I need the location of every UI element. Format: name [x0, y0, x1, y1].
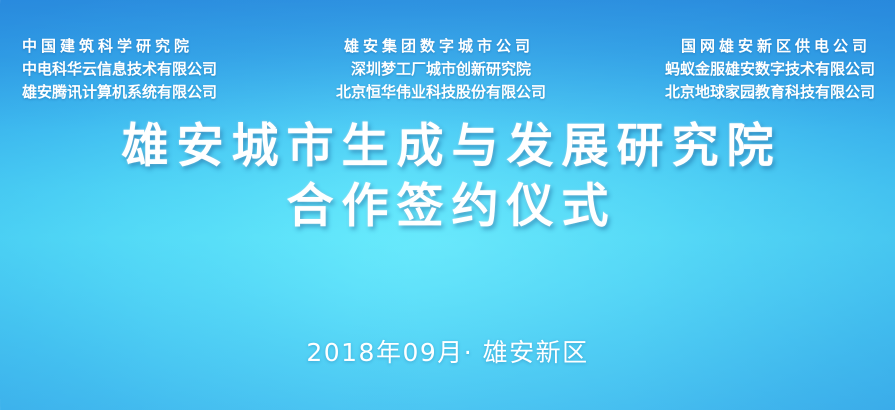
partner-name: 蚂蚁金服雄安数字技术有限公司 [665, 60, 875, 79]
event-banner: 中国建筑科学研究院 中电科华云信息技术有限公司 雄安腾讯计算机系统有限公司 雄安… [0, 0, 895, 410]
partner-name: 中电科华云信息技术有限公司 [22, 60, 217, 79]
partner-name: 国网雄安新区供电公司 [681, 37, 875, 56]
partner-name: 中国建筑科学研究院 [22, 37, 197, 56]
title-line-secondary: 合作签约仪式 [0, 178, 895, 236]
partner-name: 深圳梦工厂城市创新研究院 [351, 60, 531, 79]
partner-name: 雄安集团数字城市公司 [344, 37, 538, 56]
partner-column-2: 雄安集团数字城市公司 深圳梦工厂城市创新研究院 北京恒华伟业科技股份有限公司 [336, 37, 546, 102]
partner-column-3: 国网雄安新区供电公司 蚂蚁金服雄安数字技术有限公司 北京地球家园教育科技有限公司 [665, 37, 875, 102]
banner-content: 中国建筑科学研究院 中电科华云信息技术有限公司 雄安腾讯计算机系统有限公司 雄安… [0, 0, 895, 410]
partner-organizations: 中国建筑科学研究院 中电科华云信息技术有限公司 雄安腾讯计算机系统有限公司 雄安… [0, 37, 895, 102]
partner-column-1: 中国建筑科学研究院 中电科华云信息技术有限公司 雄安腾讯计算机系统有限公司 [22, 37, 217, 102]
partner-name: 雄安腾讯计算机系统有限公司 [22, 83, 217, 102]
banner-title: 雄安城市生成与发展研究院 合作签约仪式 [0, 118, 895, 236]
title-line-primary: 雄安城市生成与发展研究院 [0, 118, 895, 176]
partner-name: 北京地球家园教育科技有限公司 [665, 83, 875, 102]
date-location-text: 2018年09月· 雄安新区 [0, 337, 895, 369]
partner-name: 北京恒华伟业科技股份有限公司 [336, 83, 546, 102]
